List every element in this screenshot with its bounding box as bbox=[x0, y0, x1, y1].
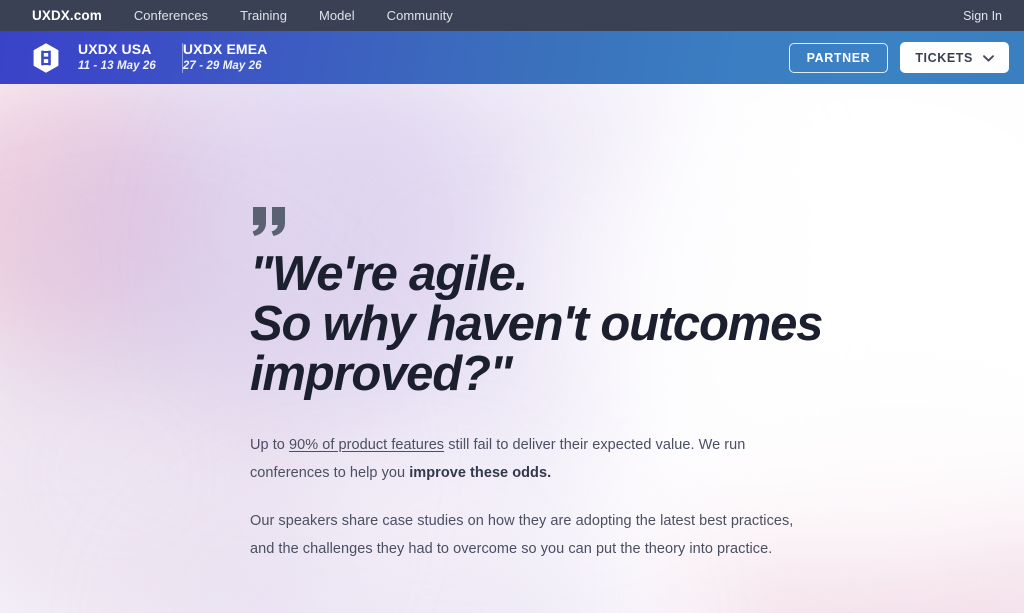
event-dates: 27 - 29 May 26 bbox=[183, 59, 268, 74]
nav-item-community[interactable]: Community bbox=[385, 8, 455, 23]
hero-section: "We're agile. So why haven't outcomes im… bbox=[0, 84, 1024, 613]
hero-content: "We're agile. So why haven't outcomes im… bbox=[0, 84, 1024, 563]
nav-item-model[interactable]: Model bbox=[317, 8, 357, 23]
top-navigation-bar: UXDX.com Conferences Training Model Comm… bbox=[0, 0, 1024, 31]
headline-line-3: improved?" bbox=[250, 347, 512, 401]
event-name: UXDX USA bbox=[78, 41, 156, 58]
hero-paragraph-2: Our speakers share case studies on how t… bbox=[250, 507, 798, 563]
product-features-stat-link[interactable]: 90% of product features bbox=[289, 437, 444, 453]
event-dates: 11 - 13 May 26 bbox=[78, 59, 156, 74]
tickets-button[interactable]: TICKETS bbox=[900, 42, 1009, 73]
paragraph-1-emphasis: improve these odds. bbox=[409, 465, 551, 481]
top-nav-right: Sign In bbox=[959, 9, 1006, 23]
event-uxdx-usa[interactable]: UXDX USA 11 - 13 May 26 bbox=[78, 41, 182, 74]
event-list: UXDX USA 11 - 13 May 26 UXDX EMEA 27 - 2… bbox=[78, 41, 294, 74]
quotation-mark-icon bbox=[250, 207, 290, 237]
event-bar-actions: PARTNER TICKETS bbox=[789, 42, 1009, 73]
site-brand-logo[interactable]: UXDX.com bbox=[30, 8, 104, 23]
sign-in-link[interactable]: Sign In bbox=[959, 9, 1006, 23]
event-banner-bar: UXDX USA 11 - 13 May 26 UXDX EMEA 27 - 2… bbox=[0, 31, 1024, 84]
hero-headline: "We're agile. So why haven't outcomes im… bbox=[250, 249, 890, 399]
tickets-button-label: TICKETS bbox=[915, 51, 973, 65]
hero-paragraph-1: Up to 90% of product features still fail… bbox=[250, 431, 798, 487]
nav-item-conferences[interactable]: Conferences bbox=[132, 8, 210, 23]
partner-button[interactable]: PARTNER bbox=[789, 43, 889, 73]
headline-line-2: So why haven't outcomes bbox=[250, 297, 822, 351]
paragraph-1-before-link: Up to bbox=[250, 437, 289, 453]
chevron-down-icon bbox=[983, 51, 994, 65]
nav-item-training[interactable]: Training bbox=[238, 8, 289, 23]
event-name: UXDX EMEA bbox=[183, 41, 268, 58]
headline-line-1: "We're agile. bbox=[250, 247, 527, 301]
top-nav-links: UXDX.com Conferences Training Model Comm… bbox=[30, 8, 455, 23]
event-uxdx-emea[interactable]: UXDX EMEA 27 - 29 May 26 bbox=[183, 41, 294, 74]
uxdx-hexagon-logo-icon[interactable] bbox=[30, 42, 62, 74]
